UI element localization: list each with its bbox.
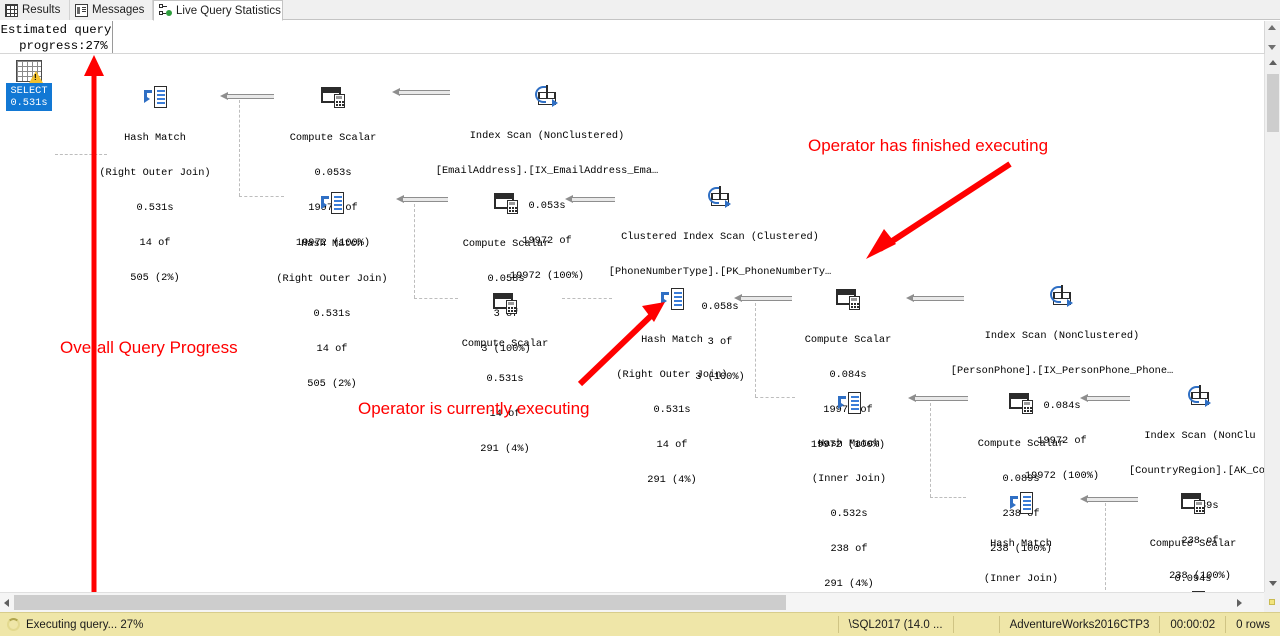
status-server: \SQL2017 (14.0 ... (838, 616, 953, 633)
execution-plan-canvas[interactable]: SELECT0.531s Hash Match (Right Outer Joi… (0, 54, 1264, 592)
status-elapsed-time: 00:00:02 (1159, 616, 1225, 633)
scroll-thumb[interactable] (1267, 74, 1279, 132)
query-text[interactable]: Query 1: Query cost (relative to the bat… (115, 21, 1264, 53)
busy-spinner-icon (7, 618, 20, 631)
tab-results[interactable]: Results (0, 0, 70, 20)
scroll-down-icon[interactable] (1268, 45, 1276, 50)
scroll-up-icon[interactable] (1269, 60, 1277, 65)
annotation-overall-query-progress: Overall Query Progress (60, 338, 238, 358)
resize-grip-icon (1269, 599, 1275, 605)
status-executing-query: Executing query... 27% (26, 619, 143, 631)
tab-live-query-statistics[interactable]: Live Query Statistics (153, 0, 283, 21)
tab-messages[interactable]: Messages (70, 0, 153, 20)
grid-icon (5, 4, 18, 17)
scroll-left-icon[interactable] (4, 599, 9, 607)
status-spacer (953, 616, 999, 633)
messages-icon (75, 4, 88, 17)
result-pane-tabstrip: Results Messages Live Query Statistics (0, 0, 1280, 20)
annotation-arrows (0, 54, 1264, 592)
scroll-down-icon[interactable] (1269, 581, 1277, 586)
status-database: AdventureWorks2016CTP3 (999, 616, 1160, 633)
scrollbar-corner[interactable] (1264, 592, 1280, 612)
tab-messages-label: Messages (92, 4, 144, 16)
scroll-right-icon[interactable] (1237, 599, 1242, 607)
live-query-statistics-icon (159, 4, 172, 17)
annotation-operator-finished: Operator has finished executing (808, 136, 1048, 156)
plan-horizontal-scrollbar[interactable] (0, 592, 1264, 612)
tab-results-label: Results (22, 4, 60, 16)
scroll-thumb[interactable] (14, 595, 786, 610)
status-row-count: 0 rows (1225, 616, 1280, 633)
query-pane-scrollbar[interactable] (1264, 21, 1280, 54)
live-query-statistics-window: Results Messages Live Query Statistics E… (0, 0, 1280, 636)
annotation-operator-executing: Operator is currently executing (358, 399, 590, 419)
query-header-pane: Estimated query progress:27% Query 1: Qu… (0, 21, 1280, 54)
tab-live-query-statistics-label: Live Query Statistics (176, 5, 281, 17)
estimated-query-progress: Estimated query progress:27% (0, 21, 113, 53)
status-bar: Executing query... 27% \SQL2017 (14.0 ..… (0, 612, 1280, 636)
scroll-up-icon[interactable] (1268, 25, 1276, 30)
plan-vertical-scrollbar[interactable] (1264, 54, 1280, 592)
